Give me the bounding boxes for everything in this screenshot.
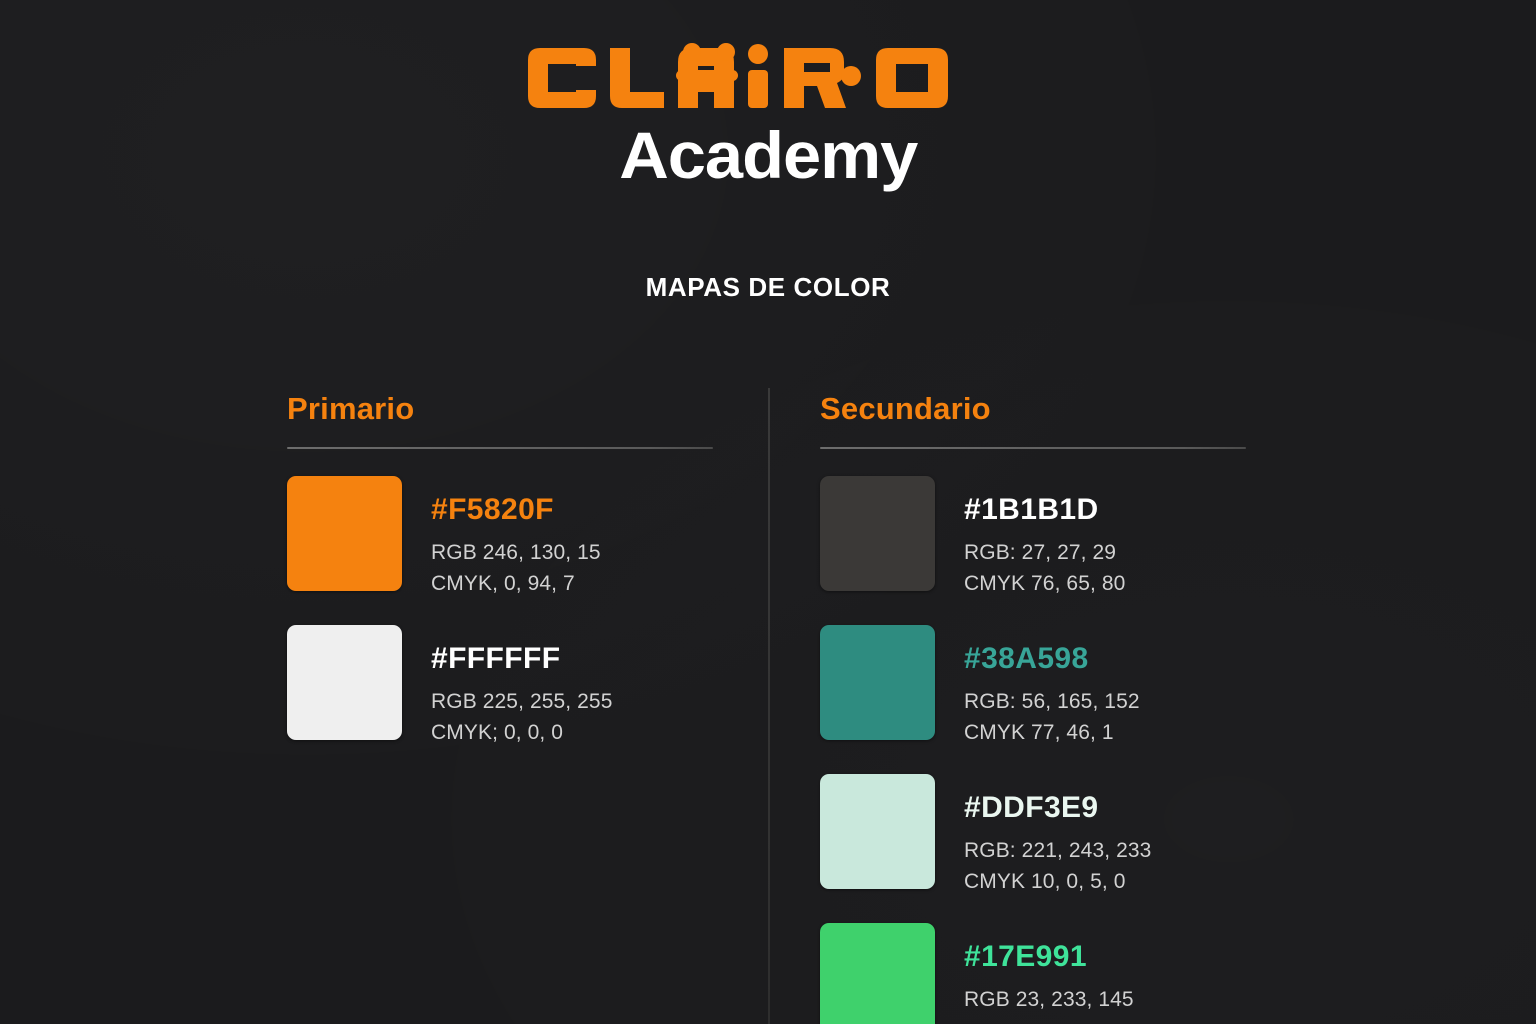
swatch-cmyk-label: CMYK 76, 65, 80 <box>964 568 1125 599</box>
column-heading: Primario <box>287 392 713 426</box>
swatch-rgb-label: RGB: 221, 243, 233 <box>964 835 1151 866</box>
column-rule <box>287 447 713 449</box>
swatch-cmyk-label: CMYK 77, 46, 1 <box>964 717 1140 748</box>
swatch-details: #17E991 RGB 23, 233, 145 <box>964 923 1134 1015</box>
color-chip[interactable] <box>287 625 402 740</box>
palette-column-primario: Primario #F5820F RGB 246, 130, 15 CMYK, … <box>0 380 768 1024</box>
swatch-row[interactable]: #FFFFFF RGB 225, 255, 255 CMYK; 0, 0, 0 <box>287 625 713 774</box>
logo-wordmark: Academy <box>619 122 917 188</box>
swatch-rgb-label: RGB 225, 255, 255 <box>431 686 613 717</box>
brand-logo: Academy <box>0 38 1536 188</box>
swatch-details: #DDF3E9 RGB: 221, 243, 233 CMYK 10, 0, 5… <box>964 774 1151 897</box>
swatch-row[interactable]: #F5820F RGB 246, 130, 15 CMYK, 0, 94, 7 <box>287 476 713 625</box>
column-heading: Secundario <box>820 392 1246 426</box>
color-chip[interactable] <box>820 923 935 1024</box>
swatch-hex-label: #1B1B1D <box>964 493 1125 528</box>
swatch-rgb-label: RGB 23, 233, 145 <box>964 984 1134 1015</box>
swatch-row[interactable]: #17E991 RGB 23, 233, 145 <box>820 923 1246 1024</box>
swatch-cmyk-label: CMYK, 0, 94, 7 <box>431 568 601 599</box>
swatch-details: #1B1B1D RGB: 27, 27, 29 CMYK 76, 65, 80 <box>964 476 1125 599</box>
color-palette-page: Academy MAPAS DE COLOR Primario #F5820F … <box>0 0 1536 1024</box>
swatch-hex-label: #DDF3E9 <box>964 791 1151 826</box>
swatch-hex-label: #F5820F <box>431 493 601 528</box>
palette-columns: Primario #F5820F RGB 246, 130, 15 CMYK, … <box>0 380 1536 1024</box>
swatch-cmyk-label: CMYK; 0, 0, 0 <box>431 717 613 748</box>
swatch-hex-label: #FFFFFF <box>431 642 613 677</box>
palette-column-secundario: Secundario #1B1B1D RGB: 27, 27, 29 CMYK … <box>768 380 1536 1024</box>
swatch-hex-label: #38A598 <box>964 642 1140 677</box>
swatch-details: #F5820F RGB 246, 130, 15 CMYK, 0, 94, 7 <box>431 476 601 599</box>
swatch-row[interactable]: #1B1B1D RGB: 27, 27, 29 CMYK 76, 65, 80 <box>820 476 1246 625</box>
color-chip[interactable] <box>820 774 935 889</box>
color-chip[interactable] <box>820 476 935 591</box>
swatch-row[interactable]: #DDF3E9 RGB: 221, 243, 233 CMYK 10, 0, 5… <box>820 774 1246 923</box>
swatch-hex-label: #17E991 <box>964 940 1134 975</box>
swatch-list: #1B1B1D RGB: 27, 27, 29 CMYK 76, 65, 80 … <box>820 476 1246 1024</box>
swatch-details: #38A598 RGB: 56, 165, 152 CMYK 77, 46, 1 <box>964 625 1140 748</box>
swatch-list: #F5820F RGB 246, 130, 15 CMYK, 0, 94, 7 … <box>287 476 713 774</box>
swatch-rgb-label: RGB 246, 130, 15 <box>431 537 601 568</box>
column-rule <box>820 447 1246 449</box>
swatch-rgb-label: RGB: 27, 27, 29 <box>964 537 1125 568</box>
swatch-cmyk-label: CMYK 10, 0, 5, 0 <box>964 866 1151 897</box>
clairo-logo-icon <box>518 38 1018 118</box>
page-title: MAPAS DE COLOR <box>0 272 1536 303</box>
color-chip[interactable] <box>820 625 935 740</box>
swatch-row[interactable]: #38A598 RGB: 56, 165, 152 CMYK 77, 46, 1 <box>820 625 1246 774</box>
swatch-details: #FFFFFF RGB 225, 255, 255 CMYK; 0, 0, 0 <box>431 625 613 748</box>
color-chip[interactable] <box>287 476 402 591</box>
swatch-rgb-label: RGB: 56, 165, 152 <box>964 686 1140 717</box>
